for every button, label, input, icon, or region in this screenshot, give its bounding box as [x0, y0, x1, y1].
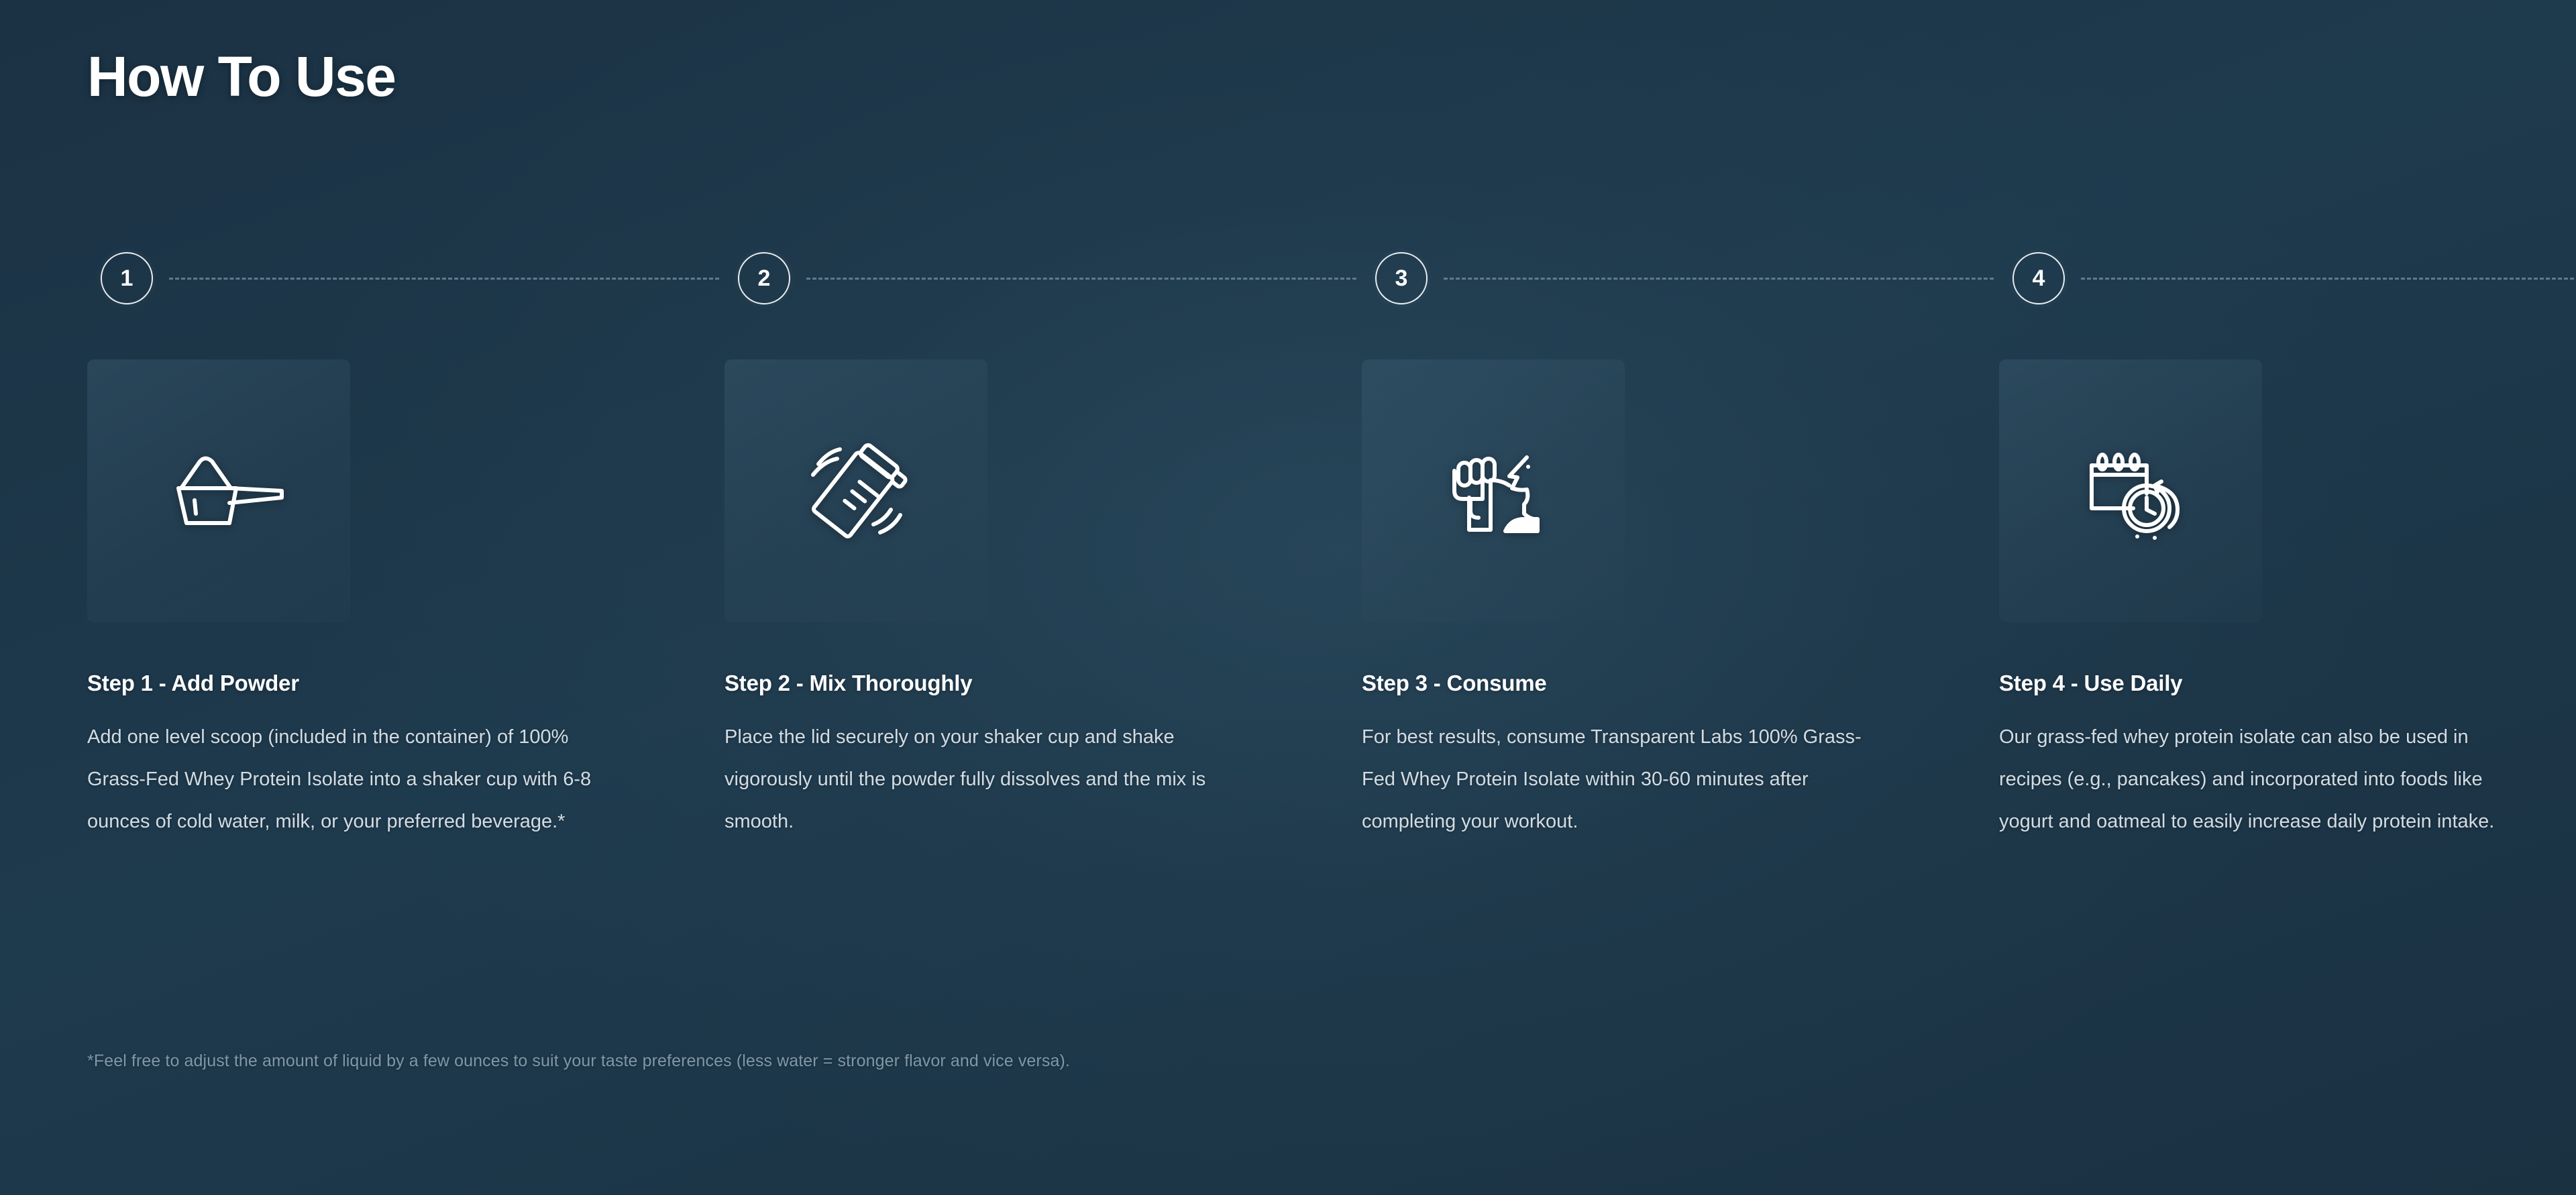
- step-card-4: Step 4 - Use Daily Our grass-fed whey pr…: [1999, 359, 2576, 843]
- step-title-4: Step 4 - Use Daily: [1999, 671, 2576, 696]
- shaker-bottle-icon: [789, 424, 923, 558]
- step-title-1: Step 1 - Add Powder: [87, 671, 678, 696]
- scoop-icon: [152, 424, 286, 558]
- step-body-4: Our grass-fed whey protein isolate can a…: [1999, 716, 2529, 843]
- hand-drinking-icon: [1426, 424, 1560, 558]
- step-icon-tile-2: [724, 359, 987, 622]
- step-icon-tile-1: [87, 359, 350, 622]
- how-to-use-section: How To Use 1 2 3 4: [0, 0, 2576, 1195]
- step-card-3: Step 3 - Consume For best results, consu…: [1362, 359, 1952, 843]
- step-icon-tile-4: [1999, 359, 2262, 622]
- step-card-2: Step 2 - Mix Thoroughly Place the lid se…: [724, 359, 1315, 843]
- footnote-text: *Feel free to adjust the amount of liqui…: [87, 1051, 1070, 1071]
- step-card-1: Step 1 - Add Powder Add one level scoop …: [87, 359, 678, 843]
- step-body-1: Add one level scoop (included in the con…: [87, 716, 617, 843]
- calendar-clock-icon: [2063, 424, 2198, 558]
- step-body-2: Place the lid securely on your shaker cu…: [724, 716, 1254, 843]
- steps-grid: Step 1 - Add Powder Add one level scoop …: [0, 0, 2576, 1195]
- step-title-3: Step 3 - Consume: [1362, 671, 1952, 696]
- step-icon-tile-3: [1362, 359, 1625, 622]
- step-title-2: Step 2 - Mix Thoroughly: [724, 671, 1315, 696]
- step-body-3: For best results, consume Transparent La…: [1362, 716, 1892, 843]
